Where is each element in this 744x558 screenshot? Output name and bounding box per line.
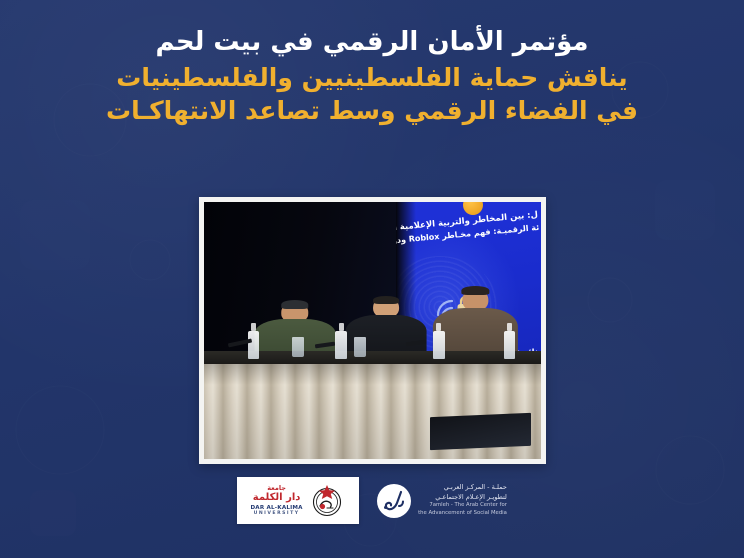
slide-heading-text: ل: بين المخاطر والتربية الإعلامية الواعي…	[396, 209, 539, 250]
water-bottle	[248, 331, 259, 359]
drinking-glass	[292, 337, 304, 358]
social-media-card: مؤتمر الأمان الرقمي في بيت لحم يناقش حما…	[0, 0, 744, 558]
water-bottle	[335, 331, 346, 359]
headline-line-3: في الفضاء الرقمي وسط تصاعد الانتهاكـات	[28, 95, 716, 128]
hamleh-logo-icon	[377, 484, 411, 518]
dar-al-kalima-logo: جامعة دار الكلمة DAR AL-KALIMA UNIVERSIT…	[237, 477, 359, 524]
dak-arabic-line-1: جامعة	[250, 485, 302, 492]
water-bottle	[504, 331, 515, 359]
headline-line-2: يناقش حماية الفلسطينيين والفلسطينيات	[28, 62, 716, 95]
panelist-left-hair	[281, 300, 308, 309]
photo-frame: ل: بين المخاطر والتربية الإعلامية الواعي…	[199, 197, 546, 464]
drinking-glass	[354, 337, 366, 358]
hamleh-english-line-2: the Advancement of Social Media	[418, 510, 507, 518]
hamleh-logo: حملـة - المركـز العربـي لتطويـر الإعـلام…	[377, 483, 507, 517]
panelist-right-hair	[461, 286, 489, 295]
hamleh-english-line-1: 7amleh - The Arab Center for	[418, 502, 507, 510]
stage-equipment	[430, 413, 531, 451]
logo-row: حملـة - المركـز العربـي لتطويـر الإعـلام…	[0, 477, 744, 524]
water-bottle	[433, 331, 444, 359]
hamleh-arabic-line-2: لتطويـر الإعـلام الاجتماعـي	[418, 493, 507, 502]
headline-block: مؤتمر الأمان الرقمي في بيت لحم يناقش حما…	[0, 26, 744, 128]
panelist-center-hair	[373, 296, 399, 304]
hamleh-logo-text: حملـة - المركـز العربـي لتطويـر الإعـلام…	[418, 483, 507, 517]
orange-circle-icon	[463, 202, 483, 215]
conference-photo: ل: بين المخاطر والتربية الإعلامية الواعي…	[204, 202, 541, 459]
dak-english-line-2: UNIVERSITY	[250, 511, 302, 516]
dak-arabic-line-2: دار الكلمة	[250, 492, 302, 503]
headline-line-1: مؤتمر الأمان الرقمي في بيت لحم	[28, 26, 716, 60]
hamleh-arabic-line-1: حملـة - المركـز العربـي	[418, 483, 507, 492]
dar-al-kalima-emblem-icon	[308, 482, 346, 520]
dar-al-kalima-logo-text: جامعة دار الكلمة DAR AL-KALIMA UNIVERSIT…	[250, 485, 302, 516]
